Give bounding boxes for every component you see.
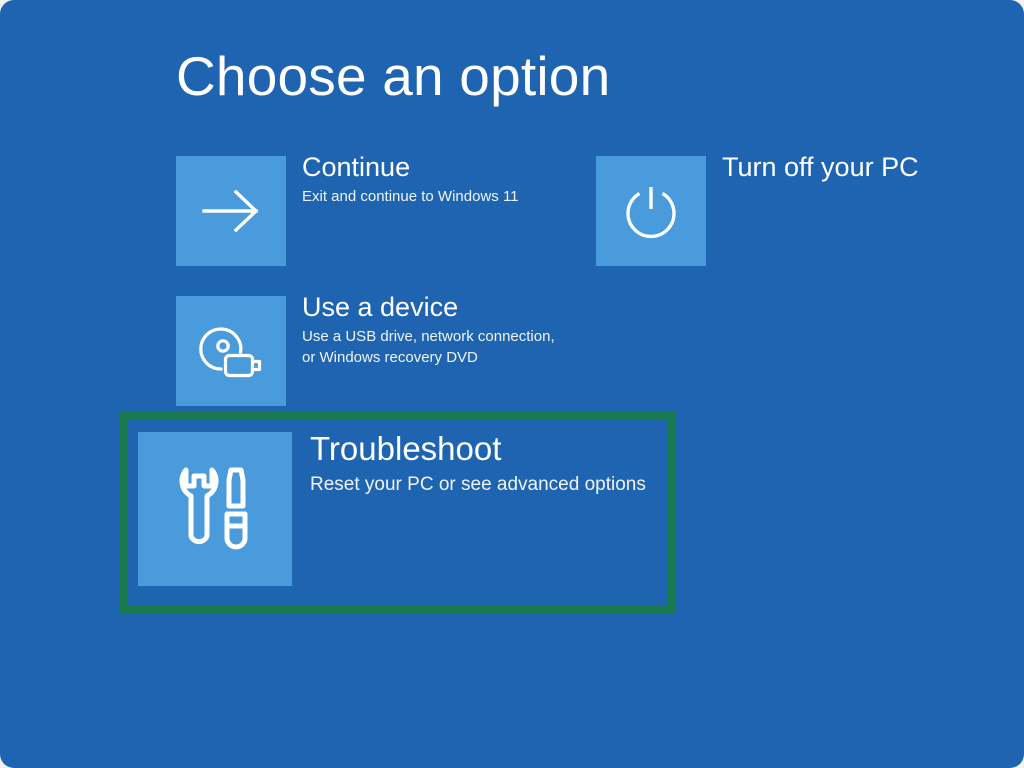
continue-text: Continue Exit and continue to Windows 11 bbox=[302, 150, 519, 207]
turn-off-text: Turn off your PC bbox=[722, 150, 919, 186]
use-a-device-subtitle: Use a USB drive, network connection, or … bbox=[302, 326, 555, 368]
turn-off-tile[interactable] bbox=[596, 156, 706, 266]
arrow-right-icon bbox=[198, 188, 264, 234]
option-continue[interactable]: Continue Exit and continue to Windows 11 bbox=[176, 156, 519, 266]
troubleshoot-title: Troubleshoot bbox=[310, 428, 646, 470]
continue-title: Continue bbox=[302, 150, 519, 184]
disc-usb-icon bbox=[195, 319, 267, 383]
use-a-device-text: Use a device Use a USB drive, network co… bbox=[302, 290, 555, 368]
use-a-device-tile[interactable] bbox=[176, 296, 286, 406]
option-turn-off-your-pc[interactable]: Turn off your PC bbox=[596, 156, 919, 266]
use-a-device-title: Use a device bbox=[302, 290, 555, 324]
recovery-screen: Choose an option Continue Exit and conti… bbox=[0, 0, 1024, 768]
continue-tile[interactable] bbox=[176, 156, 286, 266]
option-use-a-device[interactable]: Use a device Use a USB drive, network co… bbox=[176, 296, 555, 406]
continue-subtitle: Exit and continue to Windows 11 bbox=[302, 186, 519, 207]
option-troubleshoot[interactable]: Troubleshoot Reset your PC or see advanc… bbox=[138, 432, 646, 586]
page-title: Choose an option bbox=[176, 44, 610, 108]
troubleshoot-subtitle: Reset your PC or see advanced options bbox=[310, 472, 646, 498]
turn-off-title: Turn off your PC bbox=[722, 150, 919, 184]
tools-icon bbox=[169, 460, 261, 558]
power-icon bbox=[620, 180, 682, 242]
troubleshoot-tile[interactable] bbox=[138, 432, 292, 586]
troubleshoot-text: Troubleshoot Reset your PC or see advanc… bbox=[310, 428, 646, 498]
